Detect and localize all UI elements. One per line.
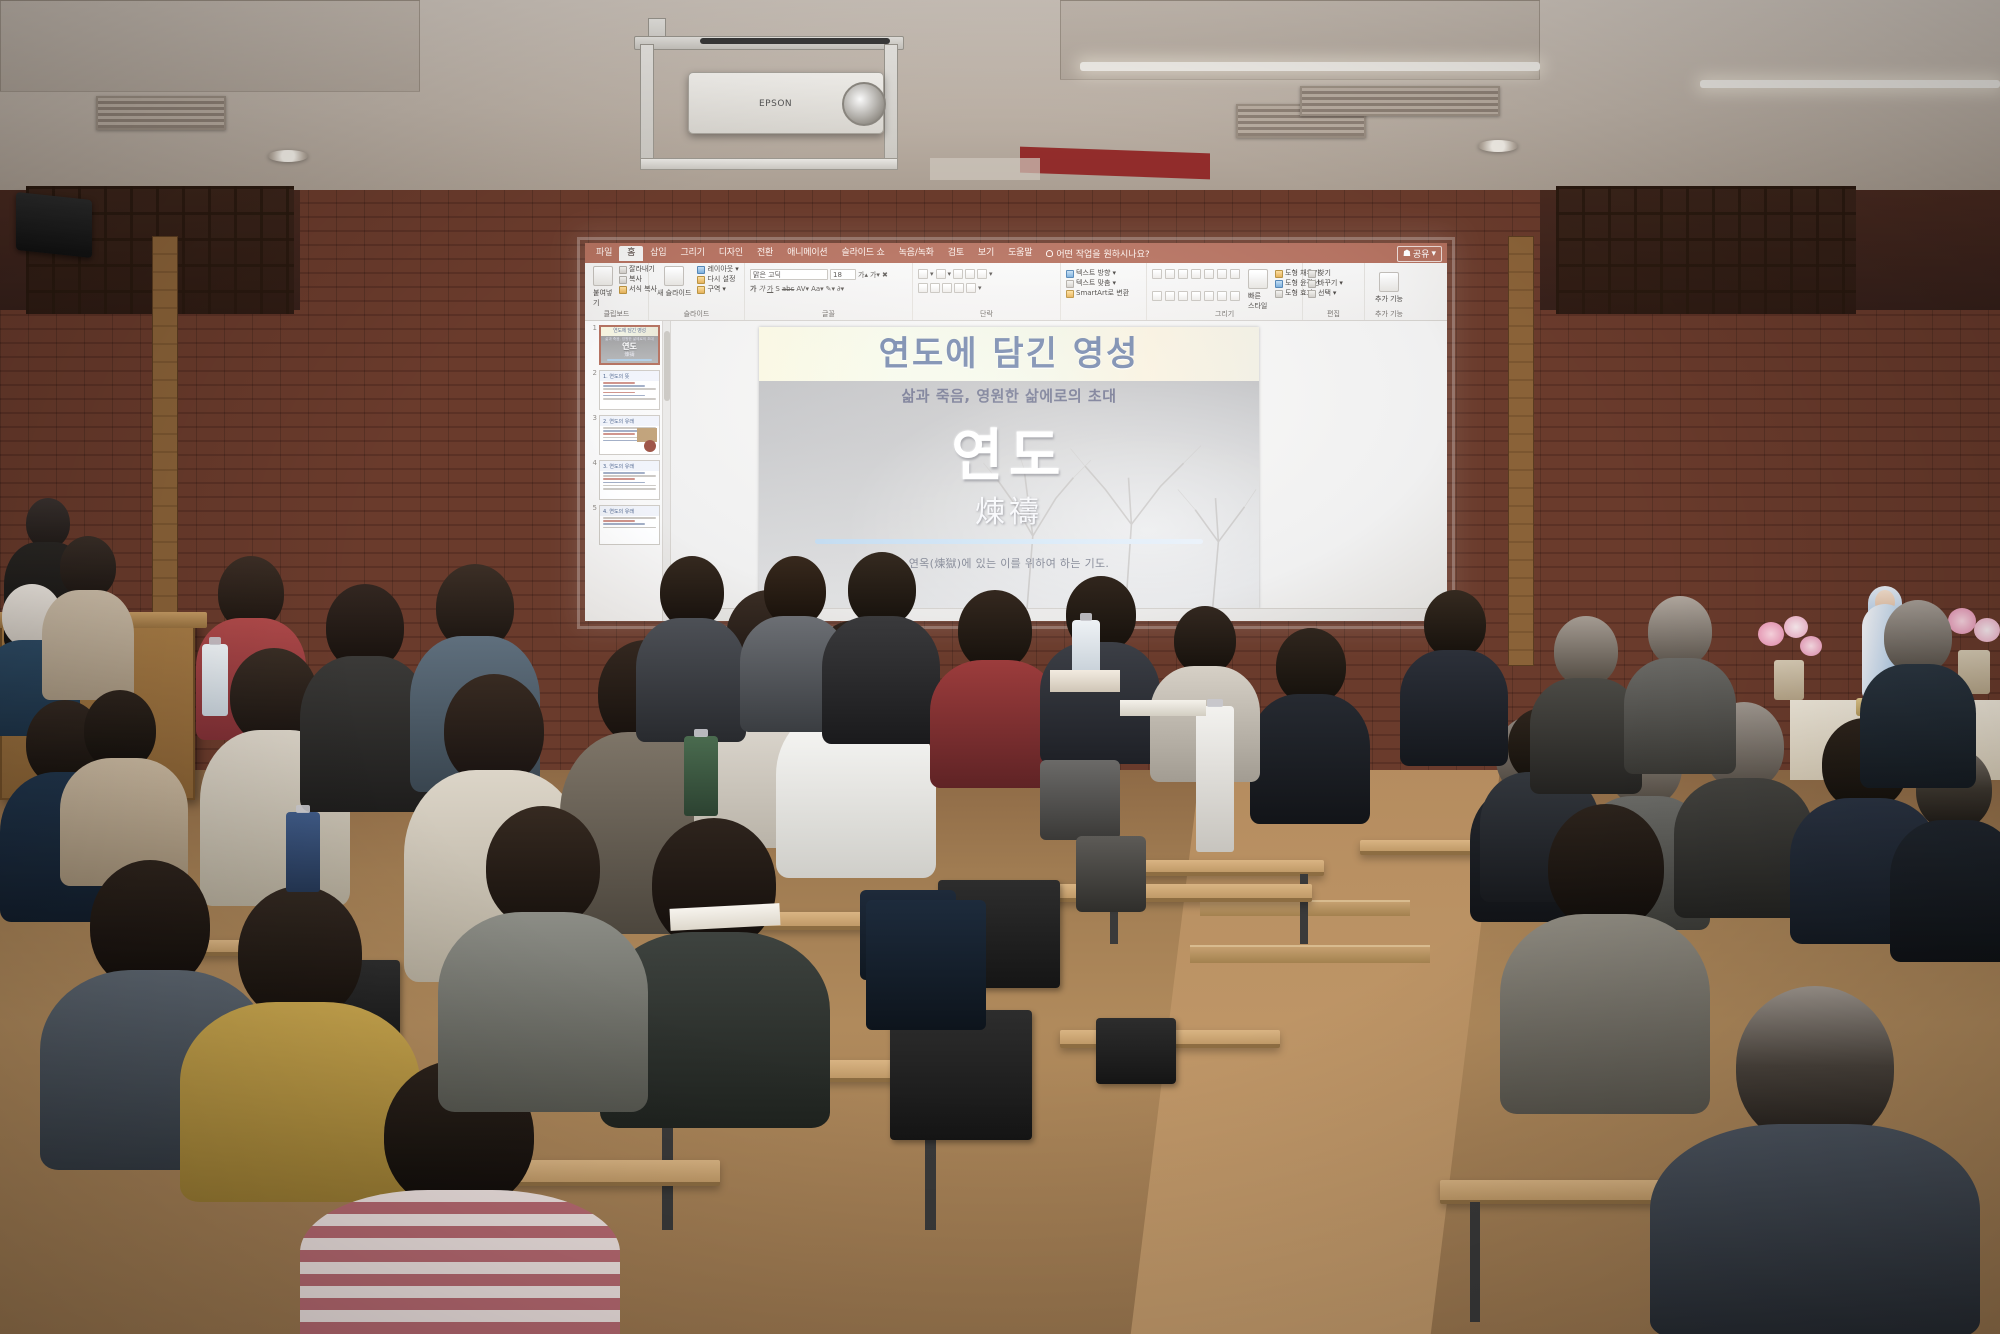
flower bbox=[1758, 622, 1784, 646]
tab-transitions[interactable]: 전환 bbox=[750, 247, 780, 260]
align-right-icon[interactable] bbox=[942, 283, 952, 293]
thermos-bottle bbox=[684, 736, 718, 816]
thumbnail-slide-4[interactable]: 4 3. 연도의 유래 bbox=[588, 460, 660, 500]
shapes-gallery[interactable] bbox=[1152, 269, 1241, 311]
torso bbox=[1890, 820, 2000, 962]
scrollbar-thumb[interactable] bbox=[664, 331, 670, 401]
text-direction-label: 텍스트 방향 bbox=[1076, 270, 1110, 277]
shape-line-icon[interactable] bbox=[1204, 269, 1214, 279]
thumbnail-number: 1 bbox=[588, 325, 597, 365]
flower bbox=[1974, 618, 2000, 642]
chevron-down-icon: ▾ bbox=[1431, 249, 1436, 259]
font-name-field[interactable]: 맑은 고딕 bbox=[750, 269, 828, 280]
tab-file[interactable]: 파일 bbox=[589, 247, 619, 260]
share-button[interactable]: ☗ 공유 ▾ bbox=[1397, 246, 1442, 262]
ribbon-group-paragraph: ▾ ▾ ▾ ▾ 단락 bbox=[913, 263, 1061, 320]
group-label-clipboard: 클립보드 bbox=[590, 311, 643, 319]
text-direction-button[interactable]: 텍스트 방향▾ bbox=[1066, 270, 1141, 278]
wall-sign bbox=[930, 158, 1040, 180]
thumbnail-slide-3[interactable]: 3 2. 연도의 유래 bbox=[588, 415, 660, 455]
layout-button[interactable]: 레이아웃▾ bbox=[697, 266, 738, 274]
clear-formatting-button[interactable]: ✖ bbox=[882, 271, 888, 279]
smartart-icon bbox=[1066, 290, 1074, 298]
shape-rect-icon[interactable] bbox=[1152, 269, 1162, 279]
wall-speaker bbox=[16, 192, 92, 258]
lecture-hall-scene: EPSON 파일 홈 삽입 그리기 디자인 전환 애니메이션 슬라이드 쇼 녹음… bbox=[0, 0, 2000, 1334]
shape-freeform-icon[interactable] bbox=[1165, 291, 1175, 301]
projector-mount-cradle bbox=[640, 158, 898, 170]
section-button[interactable]: 구역▾ bbox=[697, 286, 738, 294]
audience-member bbox=[1624, 596, 1736, 766]
share-label: 공유 bbox=[1413, 247, 1430, 260]
shadow-button[interactable]: S bbox=[775, 285, 779, 293]
head bbox=[1548, 804, 1664, 930]
thumbnail-lines bbox=[600, 471, 659, 492]
paste-button[interactable]: 붙여넣기 bbox=[590, 266, 616, 308]
thumbnail-card[interactable]: 4. 연도의 유래 bbox=[599, 505, 660, 545]
shape-rounded-icon[interactable] bbox=[1165, 269, 1175, 279]
shape-curve-icon[interactable] bbox=[1152, 291, 1162, 301]
layout-icon bbox=[697, 266, 705, 274]
ceiling-spotlight bbox=[1478, 140, 1518, 152]
thumbnail-hanja: 煉禱 bbox=[601, 352, 658, 358]
tab-animations[interactable]: 애니메이션 bbox=[780, 247, 834, 260]
thumbnail-card[interactable]: 1. 연도의 뜻 bbox=[599, 370, 660, 410]
audience-member bbox=[1250, 628, 1370, 818]
audience-member bbox=[1040, 576, 1160, 756]
select-icon bbox=[1308, 290, 1316, 298]
group-label-font: 글꼴 bbox=[750, 311, 907, 319]
torso bbox=[42, 590, 134, 700]
decrease-font-button[interactable]: 가▾ bbox=[870, 270, 880, 280]
add-ins-icon bbox=[1379, 272, 1399, 292]
quick-styles-button[interactable]: 빠른 스타일 bbox=[1245, 269, 1271, 311]
line-spacing-chevron[interactable]: ▾ bbox=[989, 270, 993, 278]
handbag bbox=[1076, 836, 1146, 912]
audience-member bbox=[1650, 986, 1980, 1334]
thumbnail-slide-2[interactable]: 2 1. 연도의 뜻 bbox=[588, 370, 660, 410]
scissors-icon bbox=[619, 266, 627, 274]
head bbox=[958, 590, 1032, 670]
head bbox=[848, 552, 916, 626]
paper-cup bbox=[1050, 670, 1120, 692]
group-label-editing: 편집 bbox=[1308, 311, 1359, 319]
tell-me-box[interactable]: 어떤 작업을 원하시나요? bbox=[1046, 247, 1149, 260]
ribbon-group-addins: 추가 기능 추가 기능 bbox=[1365, 263, 1413, 320]
head bbox=[1884, 600, 1952, 674]
wall-lattice-right bbox=[1556, 186, 1856, 314]
thumbnail-card[interactable]: 3. 연도의 유래 bbox=[599, 460, 660, 500]
section-label: 구역 bbox=[707, 286, 720, 293]
font-controls-row-2: 가 가 가 S abc AV▾ Aa▾ ✎▾ ∂▾ bbox=[750, 284, 907, 294]
reset-button[interactable]: 다시 설정 bbox=[697, 276, 738, 284]
ceiling-light-strip bbox=[1700, 80, 2000, 88]
chevron-down-icon: ▾ bbox=[1112, 280, 1116, 287]
character-spacing-button[interactable]: AV▾ bbox=[796, 285, 809, 293]
layout-label: 레이아웃 bbox=[707, 266, 733, 273]
decrease-indent-icon[interactable] bbox=[953, 269, 963, 279]
shape-oval-icon[interactable] bbox=[1178, 269, 1188, 279]
share-icon: ☗ bbox=[1403, 249, 1411, 259]
copy-icon bbox=[619, 276, 627, 284]
search-icon bbox=[1308, 270, 1316, 278]
thumbnail-slide-5[interactable]: 5 4. 연도의 유래 bbox=[588, 505, 660, 545]
thumbnail-card[interactable]: 연도에 담긴 영성 삶과 죽음, 영원한 삶에로의 초대 연도 煉禱 bbox=[599, 325, 660, 365]
tab-slideshow[interactable]: 슬라이드 쇼 bbox=[835, 247, 892, 260]
slide-hanja: 煉禱 bbox=[759, 487, 1259, 531]
ribbon-group-paragraph-extra: 텍스트 방향▾ 텍스트 맞춤▾ SmartArt로 변환 . bbox=[1061, 263, 1147, 320]
paragraph-row-2: ▾ bbox=[918, 283, 1055, 293]
torso bbox=[822, 616, 940, 744]
quick-styles-icon bbox=[1248, 269, 1268, 289]
font-color-button[interactable]: ∂▾ bbox=[837, 285, 844, 293]
quick-styles-label: 빠른 스타일 bbox=[1248, 291, 1268, 311]
flower-vase-left bbox=[1774, 660, 1804, 700]
tell-me-label: 어떤 작업을 원하시나요? bbox=[1056, 247, 1149, 260]
thumbnail-slide-1[interactable]: 1 연도에 담긴 영성 삶과 죽음, 영원한 삶에로의 초대 연도 煉禱 bbox=[588, 325, 660, 365]
audience-member bbox=[60, 690, 188, 880]
audience-member bbox=[1860, 600, 1976, 780]
water-bottle bbox=[202, 644, 228, 716]
audience-member bbox=[636, 556, 746, 736]
flower bbox=[1784, 616, 1808, 638]
shape-callout-icon[interactable] bbox=[1178, 291, 1188, 301]
tab-design[interactable]: 디자인 bbox=[712, 247, 750, 260]
ribbon-group-font: 맑은 고딕 18 가▴ 가▾ ✖ 가 가 가 S abc AV▾ Aa▾ bbox=[745, 263, 913, 320]
add-ins-label: 추가 기능 bbox=[1375, 294, 1403, 304]
increase-font-button[interactable]: 가▴ bbox=[858, 270, 868, 280]
audience-member bbox=[1400, 590, 1508, 760]
font-controls-row-1: 맑은 고딕 18 가▴ 가▾ ✖ bbox=[750, 269, 907, 280]
text-highlight-button[interactable]: ✎▾ bbox=[826, 285, 835, 293]
shape-outline-icon bbox=[1275, 280, 1283, 288]
head bbox=[1554, 616, 1618, 686]
replace-icon bbox=[1308, 280, 1316, 288]
shape-arrow-icon[interactable] bbox=[1217, 269, 1227, 279]
ceiling-vent bbox=[96, 96, 226, 130]
head bbox=[60, 536, 116, 598]
align-left-icon[interactable] bbox=[918, 283, 928, 293]
thumbnail-number: 2 bbox=[588, 370, 597, 410]
thermos-bottle bbox=[286, 812, 320, 892]
select-button[interactable]: 선택▾ bbox=[1308, 290, 1359, 298]
replace-label: 바꾸기 bbox=[1318, 280, 1337, 287]
shape-effects-icon bbox=[1275, 290, 1283, 298]
change-case-button[interactable]: Aa▾ bbox=[811, 285, 824, 293]
bullets-chevron[interactable]: ▾ bbox=[930, 270, 934, 278]
head bbox=[1424, 590, 1486, 658]
thumbnail-headline: 연도 bbox=[601, 342, 658, 352]
group-label-addins: 추가 기능 bbox=[1370, 311, 1408, 319]
bullets-icon[interactable] bbox=[918, 269, 928, 279]
thumbnail-number: 3 bbox=[588, 415, 597, 455]
strikethrough-button[interactable]: abc bbox=[782, 285, 795, 293]
thumbnail-title: 1. 연도의 뜻 bbox=[600, 371, 659, 381]
chevron-down-icon: ▾ bbox=[735, 266, 739, 273]
chevron-down-icon: ▾ bbox=[722, 286, 726, 293]
torso bbox=[1860, 664, 1976, 788]
group-label-drawing: 그리기 bbox=[1152, 311, 1297, 319]
ribbon-group-drawing: 빠른 스타일 도형 채우기 도형 윤곽선 도형 효과 그리기 bbox=[1147, 263, 1303, 320]
increase-indent-icon[interactable] bbox=[965, 269, 975, 279]
chevron-down-icon: ▾ bbox=[1339, 280, 1343, 287]
paragraph-row-1: ▾ ▾ ▾ bbox=[918, 269, 1055, 279]
torso bbox=[1650, 1124, 1980, 1334]
justify-icon[interactable] bbox=[954, 283, 964, 293]
ceiling-light-strip bbox=[1080, 62, 1540, 71]
audience-member bbox=[438, 806, 648, 1106]
thumbnail-image bbox=[644, 440, 656, 452]
projector-mount-arm-right bbox=[884, 44, 898, 166]
flower bbox=[1800, 636, 1822, 656]
copy-label: 복사 bbox=[629, 276, 642, 283]
section-icon bbox=[697, 286, 705, 294]
tab-home[interactable]: 홈 bbox=[619, 246, 643, 261]
ppt-tab-bar: 파일 홈 삽입 그리기 디자인 전환 애니메이션 슬라이드 쇼 녹음/녹화 검토… bbox=[585, 243, 1447, 263]
thumbnail-lines bbox=[600, 516, 659, 531]
chevron-down-icon: ▾ bbox=[1112, 270, 1116, 277]
thumbnail-number: 4 bbox=[588, 460, 597, 500]
wall-wood-pillar bbox=[1508, 236, 1534, 666]
handbag bbox=[1040, 760, 1120, 840]
new-slide-button[interactable]: 새 슬라이드 bbox=[654, 266, 694, 298]
torso bbox=[300, 1190, 620, 1334]
projector-mount-arm-left bbox=[640, 44, 654, 166]
find-label: 찾기 bbox=[1318, 270, 1331, 277]
font-size-field[interactable]: 18 bbox=[830, 269, 856, 280]
head bbox=[1174, 606, 1236, 674]
convert-smartart-button[interactable]: SmartArt로 변환 bbox=[1066, 290, 1141, 298]
shape-star-icon[interactable] bbox=[1191, 291, 1201, 301]
columns-icon[interactable] bbox=[966, 283, 976, 293]
tab-draw[interactable]: 그리기 bbox=[673, 247, 711, 260]
select-label: 선택 bbox=[1318, 290, 1331, 297]
numbering-chevron[interactable]: ▾ bbox=[948, 270, 952, 278]
head bbox=[486, 806, 600, 928]
shape-fill-icon bbox=[1275, 270, 1283, 278]
notebook bbox=[1120, 700, 1206, 716]
find-button[interactable]: 찾기 bbox=[1308, 270, 1359, 278]
convert-smartart-label: SmartArt로 변환 bbox=[1076, 290, 1129, 297]
shape-banner-icon[interactable] bbox=[1204, 291, 1214, 301]
replace-button[interactable]: 바꾸기▾ bbox=[1308, 280, 1359, 288]
align-text-button[interactable]: 텍스트 맞춤▾ bbox=[1066, 280, 1141, 288]
italic-button[interactable]: 가 bbox=[758, 284, 764, 294]
numbering-icon[interactable] bbox=[936, 269, 946, 279]
slide-title-band: 연도에 담긴 영성 bbox=[759, 327, 1259, 381]
slide-title: 연도에 담긴 영성 bbox=[759, 327, 1259, 381]
shape-block-icon[interactable] bbox=[1230, 291, 1240, 301]
chevron-down-icon: ▾ bbox=[1333, 290, 1337, 297]
shape-flow-icon[interactable] bbox=[1217, 291, 1227, 301]
align-center-icon[interactable] bbox=[930, 283, 940, 293]
ribbon-group-editing: 찾기 바꾸기▾ 선택▾ 편집 bbox=[1303, 263, 1365, 320]
thumbnail-card[interactable]: 2. 연도의 유래 bbox=[599, 415, 660, 455]
tab-review[interactable]: 검토 bbox=[941, 247, 971, 260]
shape-triangle-icon[interactable] bbox=[1191, 269, 1201, 279]
columns-chevron[interactable]: ▾ bbox=[978, 284, 982, 292]
tab-insert[interactable]: 삽입 bbox=[643, 247, 673, 260]
projector-cable bbox=[700, 38, 890, 44]
head bbox=[238, 886, 362, 1020]
ribbon-group-slides: 새 슬라이드 레이아웃▾ 다시 설정 구역▾ 슬라이드 bbox=[649, 263, 745, 320]
thumbnail-divider bbox=[607, 359, 652, 361]
bold-button[interactable]: 가 bbox=[750, 284, 756, 294]
torso bbox=[438, 912, 648, 1112]
align-text-label: 텍스트 맞춤 bbox=[1076, 280, 1110, 287]
head bbox=[1648, 596, 1712, 666]
aisle-step bbox=[1190, 945, 1430, 963]
backpack bbox=[866, 900, 986, 1030]
thumbnail-lines bbox=[600, 381, 659, 402]
desk-leg bbox=[1470, 1202, 1480, 1322]
ceiling-spotlight bbox=[268, 150, 308, 162]
underline-button[interactable]: 가 bbox=[767, 284, 773, 294]
projector-brand-label: EPSON bbox=[759, 99, 792, 109]
paste-icon bbox=[593, 266, 613, 286]
audience-member bbox=[42, 536, 134, 696]
align-text-icon bbox=[1066, 280, 1074, 288]
projector-lens bbox=[842, 82, 886, 126]
slide-headline: 연도 bbox=[759, 411, 1259, 492]
paste-label: 붙여넣기 bbox=[593, 288, 613, 308]
tab-help[interactable]: 도움말 bbox=[1001, 247, 1039, 260]
ppt-ribbon: 붙여넣기 잘라내기 복사 서식 복사 클립보드 새 슬라이드 bbox=[585, 263, 1447, 321]
shape-more-icon[interactable] bbox=[1230, 269, 1240, 279]
torso bbox=[636, 618, 746, 742]
new-slide-label: 새 슬라이드 bbox=[657, 288, 691, 298]
slide-divider-bar bbox=[815, 539, 1203, 544]
torso bbox=[1400, 650, 1508, 766]
line-spacing-icon[interactable] bbox=[977, 269, 987, 279]
ceiling-tile bbox=[0, 0, 420, 92]
ceiling-vent bbox=[1300, 86, 1500, 116]
paintbrush-icon bbox=[619, 286, 627, 294]
chair-back bbox=[1096, 1018, 1176, 1084]
text-direction-icon bbox=[1066, 270, 1074, 278]
reset-icon bbox=[697, 276, 705, 284]
group-label-paragraph: 단락 bbox=[918, 311, 1055, 319]
slide-subtitle: 삶과 죽음, 영원한 삶에로의 초대 bbox=[759, 385, 1259, 406]
thumbnail-title: 3. 연도의 유래 bbox=[600, 461, 659, 471]
head bbox=[1276, 628, 1346, 704]
tab-record[interactable]: 녹음/녹화 bbox=[892, 247, 941, 260]
tab-view[interactable]: 보기 bbox=[971, 247, 1001, 260]
new-slide-icon bbox=[664, 266, 684, 286]
torso bbox=[1624, 658, 1736, 774]
thumbnail-number: 5 bbox=[588, 505, 597, 545]
torso bbox=[1250, 694, 1370, 824]
reset-label: 다시 설정 bbox=[707, 276, 735, 283]
thumbnail-title: 4. 연도의 유래 bbox=[600, 506, 659, 516]
thermos-bottle bbox=[1196, 706, 1234, 852]
lightbulb-icon bbox=[1046, 250, 1053, 257]
thumbnail-title: 연도에 담긴 영성 bbox=[601, 327, 658, 336]
thumbnail-title: 2. 연도의 유래 bbox=[600, 416, 659, 426]
thumbnail-body: 삶과 죽음, 영원한 삶에로의 초대 연도 煉禱 bbox=[601, 336, 658, 365]
group-label-slides: 슬라이드 bbox=[654, 311, 739, 319]
ribbon-group-clipboard: 붙여넣기 잘라내기 복사 서식 복사 클립보드 bbox=[585, 263, 649, 320]
add-ins-button[interactable]: 추가 기능 bbox=[1370, 266, 1408, 304]
audience-member bbox=[822, 552, 940, 738]
head bbox=[1736, 986, 1894, 1146]
